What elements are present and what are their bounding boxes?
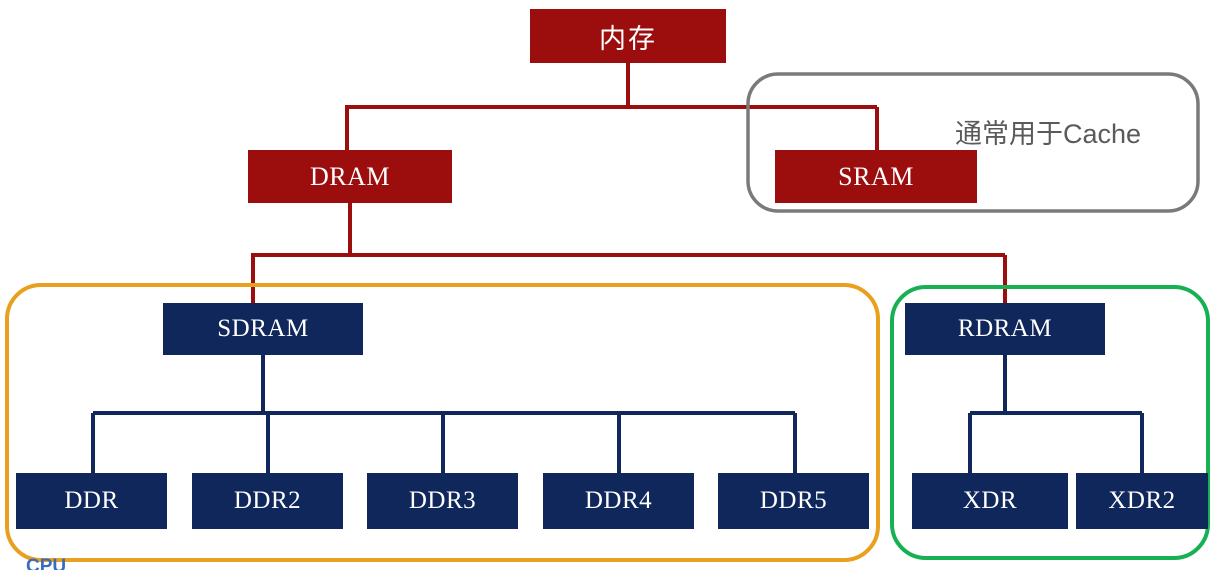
node-xdr2[interactable]: XDR2	[1076, 473, 1208, 529]
diagram-canvas: 通常用于Cache 内存 DRAM SRAM SDRAM RDRAM DDR D…	[0, 0, 1228, 570]
connector-rdram-to-xdr	[970, 355, 1142, 473]
node-ddr[interactable]: DDR	[16, 473, 167, 529]
node-ddr5[interactable]: DDR5	[718, 473, 869, 529]
node-ddr4[interactable]: DDR4	[543, 473, 694, 529]
connector-root-to-level2	[347, 63, 877, 150]
connector-dram-to-level3	[253, 203, 1005, 303]
node-memory-root[interactable]: 内存	[530, 9, 726, 63]
node-rdram[interactable]: RDRAM	[905, 303, 1105, 355]
node-sram[interactable]: SRAM	[775, 150, 977, 203]
node-ddr3[interactable]: DDR3	[367, 473, 518, 529]
node-xdr[interactable]: XDR	[912, 473, 1068, 529]
group-label-cache: 通常用于Cache	[955, 112, 1141, 151]
node-ddr2[interactable]: DDR2	[192, 473, 343, 529]
node-dram[interactable]: DRAM	[248, 150, 452, 203]
node-sdram[interactable]: SDRAM	[163, 303, 363, 355]
connector-sdram-to-ddr	[93, 355, 795, 473]
corner-watermark-label: CPU	[26, 556, 66, 570]
